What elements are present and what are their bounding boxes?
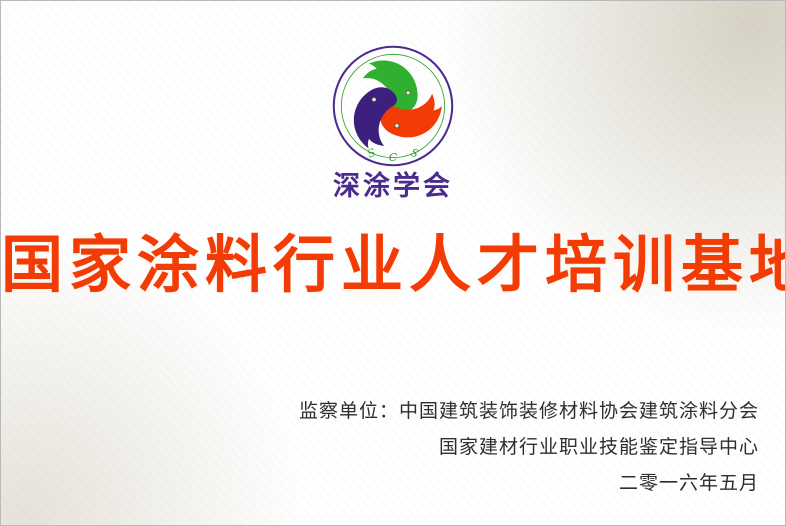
award-plaque: S C S 深涂学会 国家涂料行业人才培训基地 监察单位：中国建筑装饰装修材料协… bbox=[0, 0, 786, 526]
emblem-monogram-letter: C bbox=[389, 151, 397, 164]
footer-line-guidance-center: 国家建材行业职业技能鉴定指导中心 bbox=[299, 429, 759, 465]
footer-block: 监察单位：中国建筑装饰装修材料协会建筑涂料分会 国家建材行业职业技能鉴定指导中心… bbox=[299, 393, 759, 501]
footer-line-date: 二零一六年五月 bbox=[299, 465, 759, 501]
logo-wordmark: 深涂学会 bbox=[333, 173, 453, 200]
footer-line-supervising-unit: 监察单位：中国建筑装饰装修材料协会建筑涂料分会 bbox=[299, 393, 759, 429]
shentu-society-emblem-icon: S C S bbox=[330, 43, 456, 169]
logo-block: S C S 深涂学会 bbox=[1, 43, 785, 200]
page-title: 国家涂料行业人才培训基地 bbox=[1, 229, 785, 301]
